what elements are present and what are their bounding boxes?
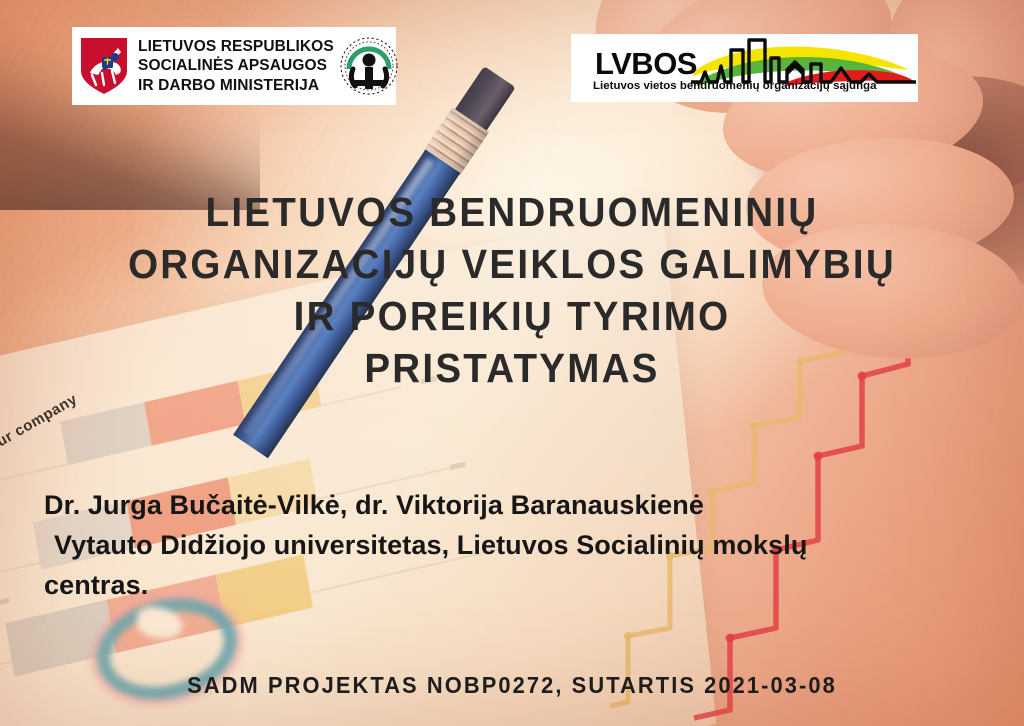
lvbos-logo: LVBOS Lietuvos vietos bendruomenių organ… (571, 34, 918, 102)
lvbos-wordmark: LVBOS (595, 46, 697, 82)
project-reference: SADM PROJEKTAS NOBP0272, SUTARTIS 2021-0… (26, 672, 999, 699)
ministry-name: LIETUVOS RESPUBLIKOS SOCIALINĖS APSAUGOS… (138, 37, 334, 96)
title-line: PRISTATYMAS (31, 342, 994, 394)
ministry-name-line: LIETUVOS RESPUBLIKOS (138, 37, 334, 57)
title-line: LIETUVOS BENDRUOMENINIŲ (31, 186, 994, 238)
presentation-title-slide: ur company (0, 0, 1024, 726)
ministry-logo: LIETUVOS RESPUBLIKOS SOCIALINĖS APSAUGOS… (72, 27, 396, 105)
ministry-name-line: IR DARBO MINISTERIJA (138, 76, 334, 96)
lvbos-tagline: Lietuvos vietos bendruomenių organizacij… (593, 80, 876, 92)
title-line: IR POREIKIŲ TYRIMO (31, 290, 994, 342)
affiliation-line: Vytauto Didžiojo universitetas, Lietuvos… (44, 525, 974, 565)
author-affiliation-block: Dr. Jurga Bučaitė-Vilkė, dr. Viktorija B… (44, 485, 974, 605)
page-title: LIETUVOS BENDRUOMENINIŲ ORGANIZACIJŲ VEI… (0, 186, 1024, 394)
project-footer: SADM PROJEKTAS NOBP0272, SUTARTIS 2021-0… (0, 672, 1024, 699)
ministry-name-line: SOCIALINĖS APSAUGOS (138, 56, 334, 76)
affiliation-line: centras. (44, 565, 974, 605)
vytis-coat-of-arms-icon (78, 35, 130, 97)
title-line: ORGANIZACIJŲ VEIKLOS GALIMYBIŲ (31, 238, 994, 290)
author-names: Dr. Jurga Bučaitė-Vilkė, dr. Viktorija B… (44, 485, 974, 525)
sadm-emblem-icon (340, 35, 398, 97)
